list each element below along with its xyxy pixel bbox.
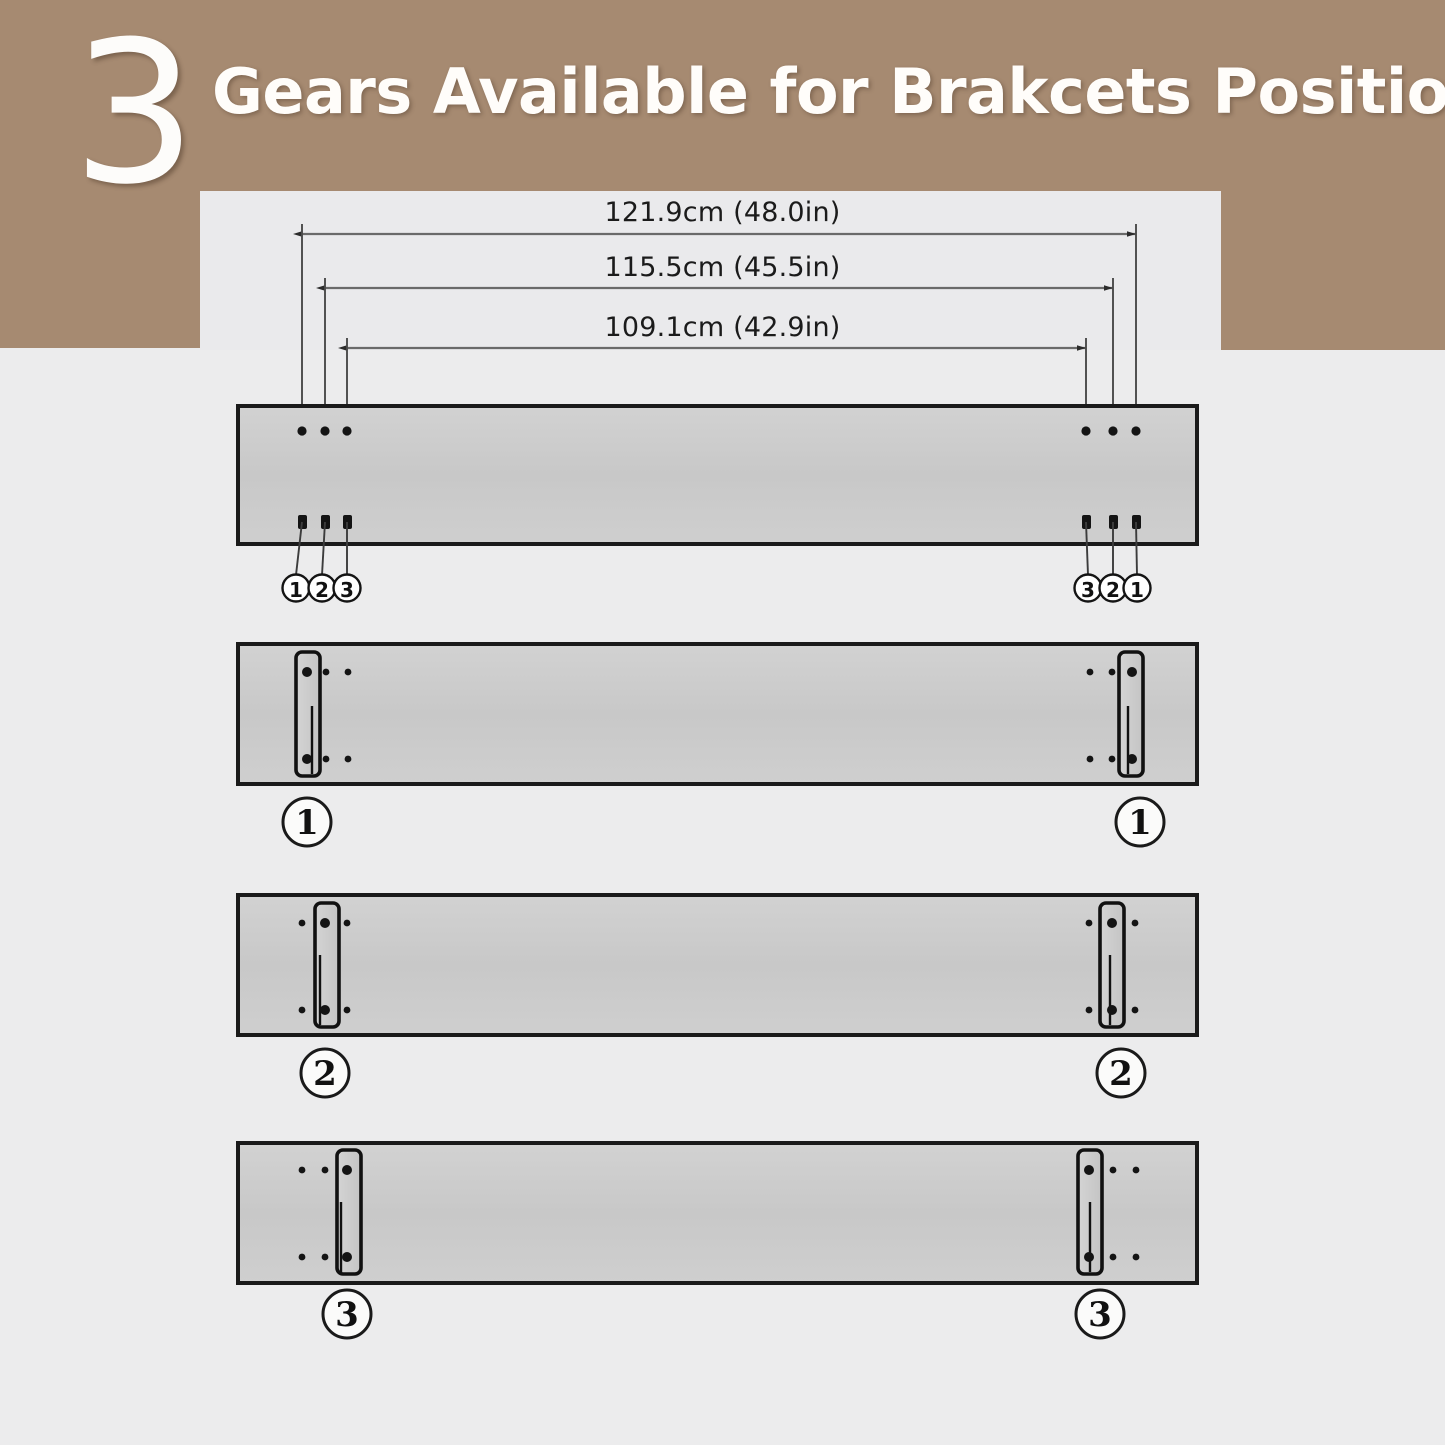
board-gear-2-marker-right: 2	[1109, 1054, 1133, 1094]
board-body	[238, 406, 1197, 544]
dimension-lines	[302, 234, 1136, 348]
board-gear-1	[238, 644, 1197, 784]
board-overview	[238, 406, 1197, 575]
board-gear-1-caption-left: 1	[283, 798, 331, 846]
extension-leaders-top	[302, 224, 1136, 430]
overview-marker-right-3: 1	[1130, 578, 1144, 602]
board-gear-3	[238, 1143, 1197, 1283]
board-gear-1-marker-right: 1	[1128, 803, 1152, 843]
overview-marker-right-1: 3	[1081, 578, 1095, 602]
board-gear-2-caption-right: 2	[1097, 1049, 1145, 1097]
technical-drawing: 1 2 3 3 2 1	[0, 0, 1445, 1445]
overview-markers-left: 1 2 3	[283, 575, 361, 603]
board-gear-2-marker-left: 2	[313, 1054, 337, 1094]
diagram-stage: 3 Gears Available for Brakcets Position …	[0, 0, 1445, 1445]
overview-markers-right: 3 2 1	[1075, 575, 1151, 603]
board-gear-1-caption-right: 1	[1116, 798, 1164, 846]
board-body	[238, 895, 1197, 1035]
overview-marker-left-3: 3	[340, 578, 354, 602]
board-gear-1-marker-left: 1	[295, 803, 319, 843]
board-gear-3-caption-right: 3	[1076, 1290, 1124, 1338]
board-body	[238, 644, 1197, 784]
board-gear-2	[238, 895, 1197, 1035]
board-gear-3-marker-left: 3	[335, 1295, 359, 1335]
board-body	[238, 1143, 1197, 1283]
overview-marker-left-2: 2	[315, 578, 329, 602]
overview-marker-right-2: 2	[1106, 578, 1120, 602]
board-gear-2-caption-left: 2	[301, 1049, 349, 1097]
board-gear-3-marker-right: 3	[1088, 1295, 1112, 1335]
board-gear-3-caption-left: 3	[323, 1290, 371, 1338]
overview-marker-left-1: 1	[289, 578, 303, 602]
